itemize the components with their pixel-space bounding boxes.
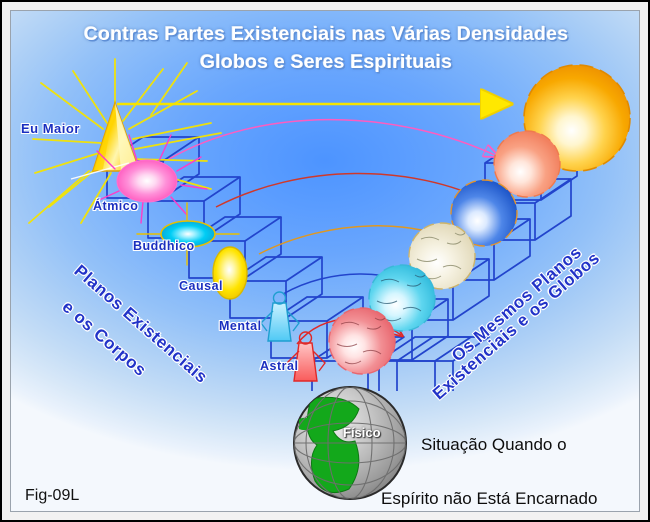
label-plane-atmico: Átmico	[93, 199, 138, 213]
label-eu-maior: Eu Maior	[21, 121, 80, 136]
caption-line2: Espírito não Está Encarnado	[381, 489, 597, 509]
atmico-body	[117, 160, 177, 202]
globo-fisico	[294, 387, 406, 499]
label-plane-buddhico: Buddhico	[133, 239, 195, 253]
figure-number: Fig-09L	[25, 487, 79, 505]
caption-line1: Situação Quando o	[421, 435, 567, 455]
label-globo-fisico: Físico	[343, 425, 381, 440]
label-plane-mental: Mental	[219, 319, 262, 333]
arrow-atmico	[169, 120, 497, 159]
page-title-line2: Globos e Seres Espirituais	[11, 51, 640, 74]
label-plane-causal: Causal	[179, 279, 223, 293]
mental-body	[261, 292, 299, 341]
label-plane-astral: Astral	[260, 359, 298, 373]
arrow-buddhico	[216, 173, 491, 207]
figure-canvas: Contras Partes Existenciais nas Várias D…	[10, 10, 640, 512]
figure-frame: Contras Partes Existenciais nas Várias D…	[0, 0, 650, 522]
page-title-line1: Contras Partes Existenciais nas Várias D…	[11, 23, 640, 46]
diagram-stage: Contras Partes Existenciais nas Várias D…	[11, 11, 640, 512]
globo-astral	[329, 308, 395, 374]
astral-body	[287, 332, 325, 381]
